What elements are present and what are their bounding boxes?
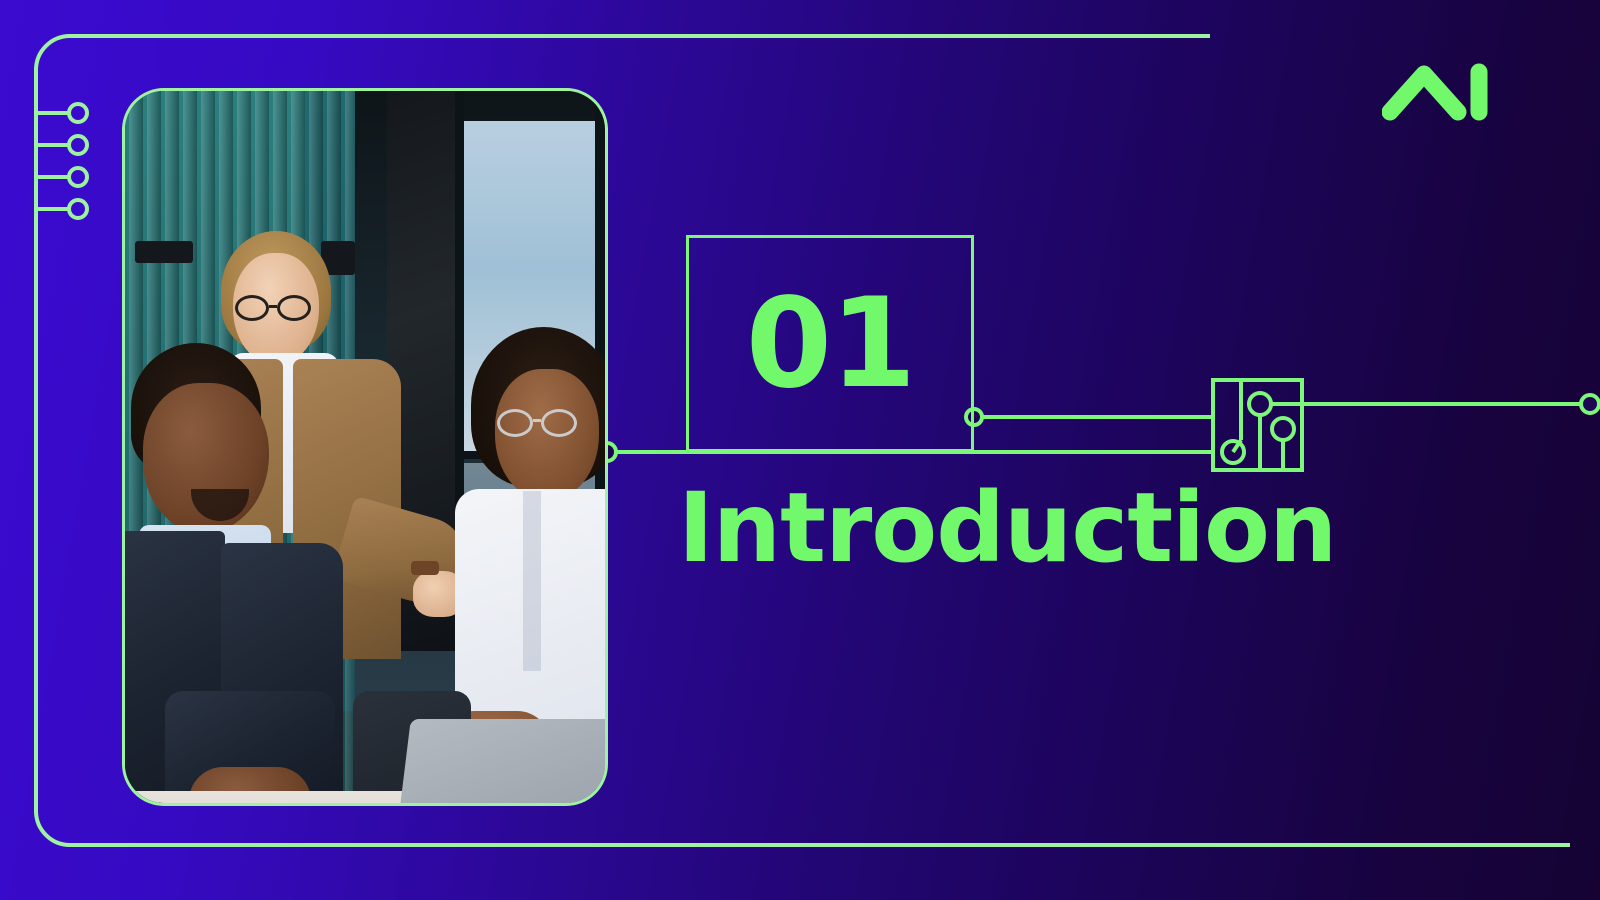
connector-node-right-edge (1581, 395, 1599, 413)
photo-shirt-placket (523, 491, 541, 671)
photo-glasses-standing (235, 295, 269, 321)
slide-canvas: 01 Introduction (0, 0, 1600, 900)
frame-top-left-corner (36, 36, 70, 70)
frame-bottom-left-corner (36, 811, 70, 845)
section-number-box: 01 (686, 235, 974, 452)
business-team-meeting-photo (122, 88, 608, 806)
circuit-trace-3 (36, 168, 87, 186)
photo-glasses-right (497, 409, 533, 437)
ai-chevron-logo (1382, 60, 1490, 122)
circuit-trace-1 (36, 104, 87, 122)
circuit-trace-2 (36, 136, 87, 154)
circuit-node-module (1213, 380, 1302, 470)
chevron-icon (1390, 74, 1458, 112)
photo-laptop (391, 719, 608, 806)
section-title: Introduction (678, 480, 1336, 576)
section-number: 01 (746, 282, 915, 406)
circuit-trace-4 (36, 200, 87, 218)
photo-wristwatch (411, 561, 439, 575)
photo-wall-bracket (135, 241, 193, 263)
